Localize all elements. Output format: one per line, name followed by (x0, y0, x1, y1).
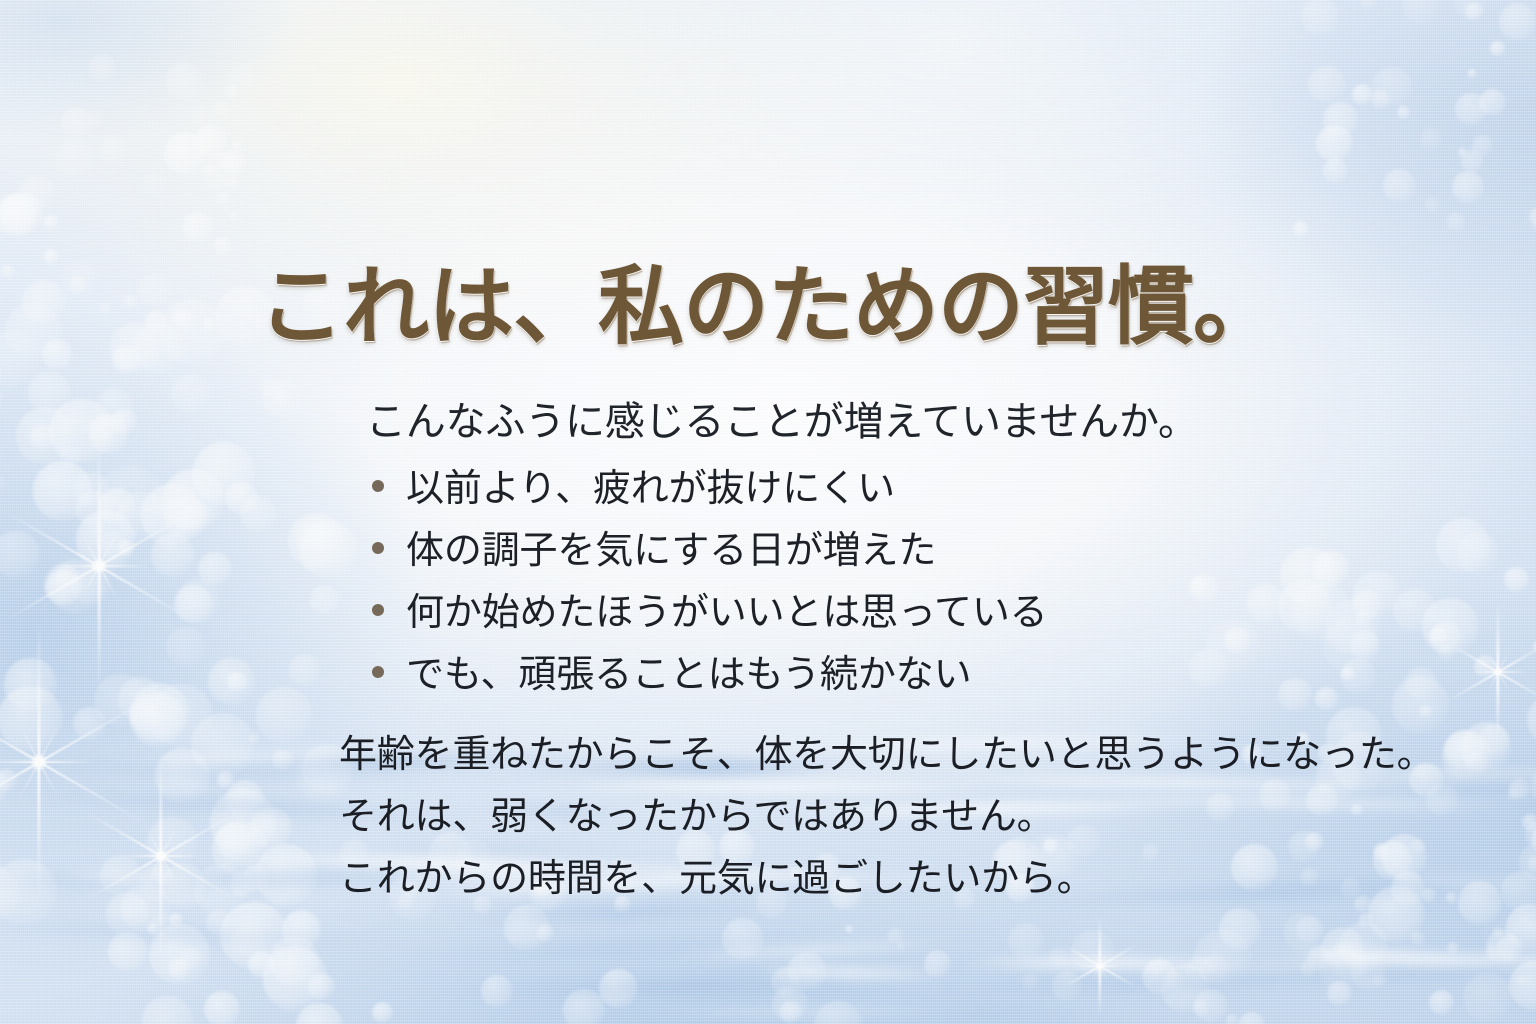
closing-paragraph-line: これからの時間を、元気に過ごしたいから。 (339, 860, 1434, 922)
bullet-dot-icon (372, 604, 384, 616)
list-item-label: でも、頑張ることはもう続かない (406, 656, 971, 694)
symptom-bullet-list: 以前より、疲れが抜けにくい体の調子を気にする日が増えた何か始めたほうがいいとは思… (372, 470, 1048, 718)
lead-question-text: こんなふうに感じることが増えていませんか。 (366, 398, 1198, 446)
closing-paragraph-line: それは、弱くなったからではありません。 (339, 798, 1434, 860)
closing-paragraph-line: 年齢を重ねたからこそ、体を大切にしたいと思うようになった。 (339, 736, 1434, 798)
closing-paragraph-block: 年齢を重ねたからこそ、体を大切にしたいと思うようになった。それは、弱くなったから… (339, 736, 1434, 922)
page-title: これは、私のための習慣。 (0, 262, 1536, 352)
presentation-slide: これは、私のための習慣。 こんなふうに感じることが増えていませんか。 以前より、… (0, 0, 1536, 1024)
list-item-label: 以前より、疲れが抜けにくい (406, 470, 895, 508)
bullet-dot-icon (372, 666, 384, 678)
list-item-label: 体の調子を気にする日が増えた (406, 532, 936, 570)
bullet-dot-icon (372, 480, 384, 492)
list-item: 以前より、疲れが抜けにくい (372, 470, 1048, 532)
list-item-label: 何か始めたほうがいいとは思っている (406, 594, 1048, 632)
list-item: 体の調子を気にする日が増えた (372, 532, 1048, 594)
slide-content: これは、私のための習慣。 こんなふうに感じることが増えていませんか。 以前より、… (0, 0, 1536, 1024)
list-item: でも、頑張ることはもう続かない (372, 656, 1048, 718)
bullet-dot-icon (372, 542, 384, 554)
list-item: 何か始めたほうがいいとは思っている (372, 594, 1048, 656)
